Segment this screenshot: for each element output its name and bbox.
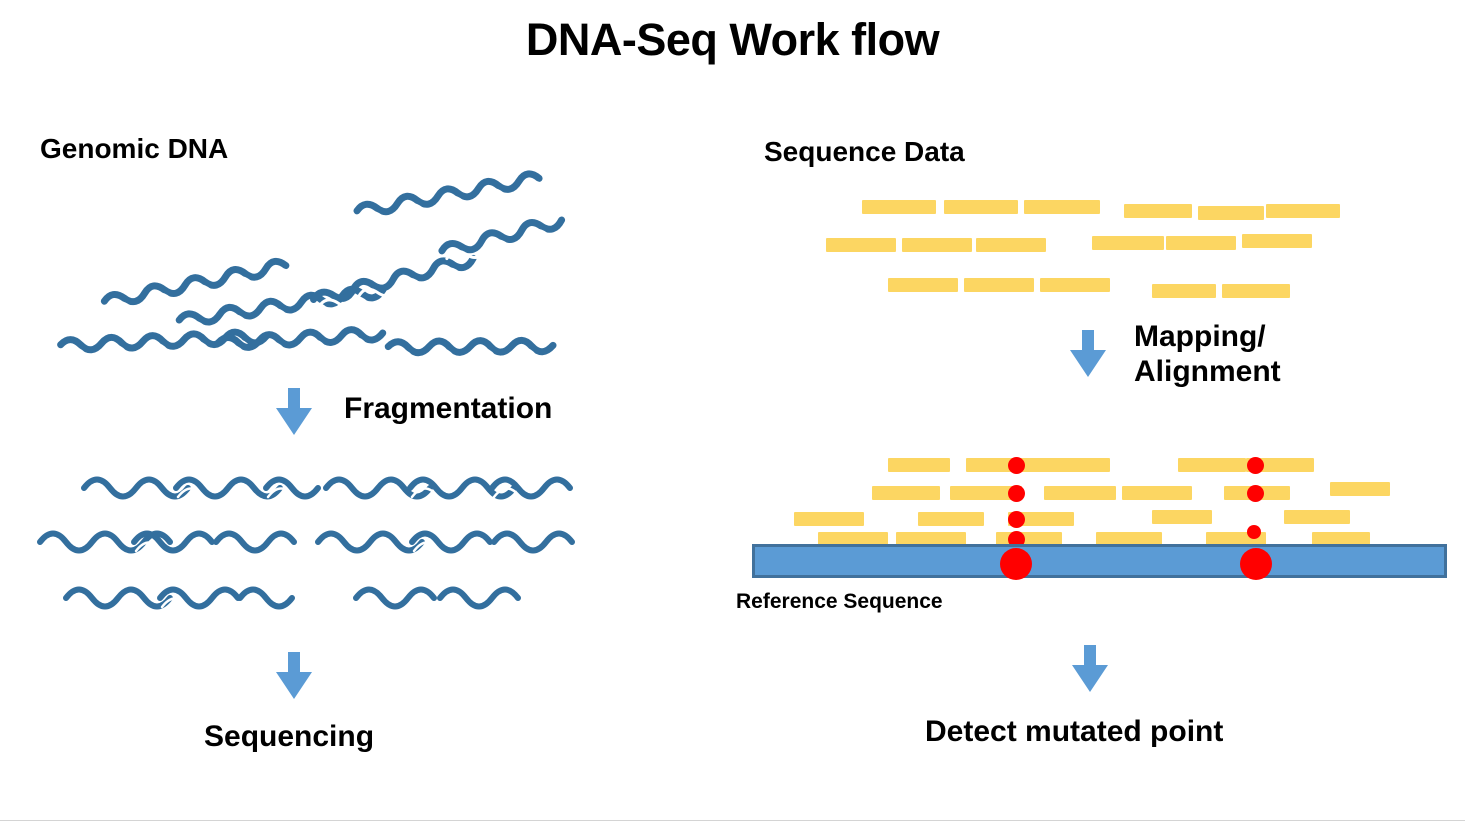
mutation-dot bbox=[1247, 525, 1261, 539]
read-bar bbox=[1152, 510, 1212, 524]
read-bar bbox=[888, 278, 958, 292]
read-bar bbox=[1222, 284, 1290, 298]
read-bar bbox=[1044, 486, 1116, 500]
read-bar bbox=[1122, 486, 1192, 500]
reference-sequence-label: Reference Sequence bbox=[736, 590, 943, 614]
read-bar bbox=[964, 278, 1034, 292]
read-bar bbox=[826, 238, 896, 252]
read-bar bbox=[794, 512, 864, 526]
mutation-dot bbox=[1008, 511, 1025, 528]
mapping-label-line1: Mapping/ bbox=[1134, 319, 1281, 354]
read-bar bbox=[1198, 206, 1264, 220]
fragmentation-label: Fragmentation bbox=[344, 391, 552, 426]
reference-mutation-dot bbox=[1240, 548, 1272, 580]
mapping-label-line2: Alignment bbox=[1134, 354, 1281, 389]
mutation-dot bbox=[1247, 485, 1264, 502]
read-bar bbox=[918, 512, 984, 526]
read-bar bbox=[872, 486, 940, 500]
read-bar bbox=[862, 200, 936, 214]
read-bar bbox=[1284, 510, 1350, 524]
read-bar bbox=[1040, 278, 1110, 292]
mutation-dot bbox=[1247, 457, 1264, 474]
read-bar bbox=[976, 238, 1046, 252]
reference-sequence-bar bbox=[752, 544, 1447, 578]
read-bar bbox=[888, 458, 950, 472]
mapping-arrow-icon bbox=[1068, 330, 1108, 378]
read-bar bbox=[1038, 458, 1110, 472]
read-bar bbox=[1178, 458, 1246, 472]
page-title: DNA-Seq Work flow bbox=[0, 14, 1465, 66]
genomic-dna-heading: Genomic DNA bbox=[40, 133, 228, 165]
read-bar bbox=[1266, 204, 1340, 218]
mutation-dot bbox=[1008, 485, 1025, 502]
read-bar bbox=[1166, 236, 1236, 250]
slide-canvas: DNA-Seq Work flow Genomic DNA bbox=[0, 0, 1465, 827]
mapping-alignment-label: Mapping/ Alignment bbox=[1134, 319, 1281, 390]
read-bar bbox=[902, 238, 972, 252]
read-bar bbox=[1330, 482, 1390, 496]
read-bar bbox=[1124, 204, 1192, 218]
read-bar bbox=[966, 458, 1044, 472]
sequencing-arrow-icon bbox=[274, 652, 314, 700]
read-bar bbox=[1152, 284, 1216, 298]
fragmentation-arrow-icon bbox=[274, 388, 314, 436]
dna-fragments bbox=[0, 0, 1465, 827]
genomic-dna-strands bbox=[0, 0, 1465, 827]
sequencing-label: Sequencing bbox=[204, 719, 374, 754]
detect-mutated-point-label: Detect mutated point bbox=[925, 714, 1223, 749]
read-bar bbox=[944, 200, 1018, 214]
sequence-data-heading: Sequence Data bbox=[764, 136, 965, 168]
mutation-dot bbox=[1008, 457, 1025, 474]
read-bar bbox=[1024, 200, 1100, 214]
read-bar bbox=[1092, 236, 1164, 250]
footer-divider bbox=[0, 820, 1465, 821]
detect-arrow-icon bbox=[1070, 645, 1110, 693]
reference-mutation-dot bbox=[1000, 548, 1032, 580]
read-bar bbox=[1242, 234, 1312, 248]
